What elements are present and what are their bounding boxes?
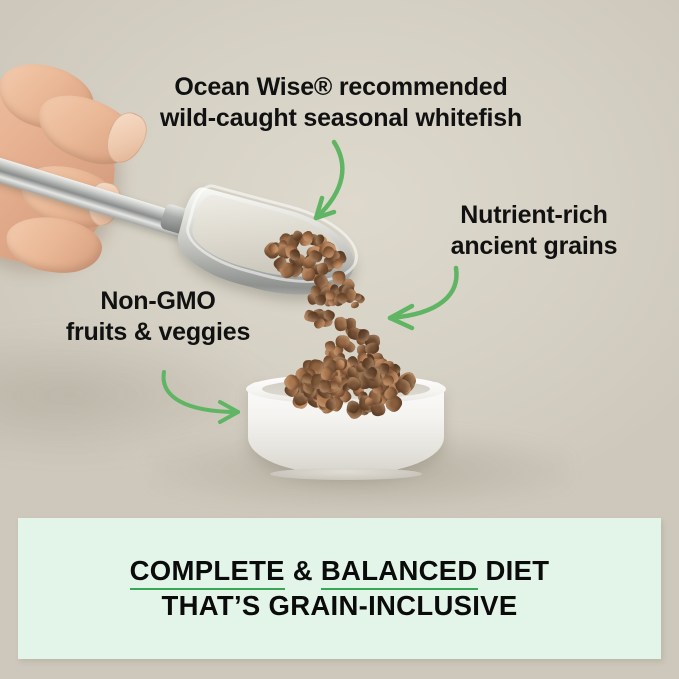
curved-arrow-down-left-icon xyxy=(286,138,376,234)
annotation-grains-label: Nutrient-rich ancient grains xyxy=(418,200,650,261)
claim-banner: COMPLETE & BALANCED DIET THAT’S GRAIN-IN… xyxy=(18,518,661,659)
curved-arrow-left-icon xyxy=(374,262,466,342)
banner-line-2: THAT’S GRAIN-INCLUSIVE xyxy=(162,589,518,623)
banner-line-1: COMPLETE & BALANCED DIET xyxy=(130,554,550,588)
metal-scoop xyxy=(0,150,306,290)
kibble-piece xyxy=(331,270,346,285)
kibble-piece xyxy=(325,290,335,299)
annotation-whitefish-label: Ocean Wise® recommended wild-caught seas… xyxy=(104,72,578,133)
banner-diet-word: DIET xyxy=(478,555,550,586)
product-lifestyle-image: Ocean Wise® recommended wild-caught seas… xyxy=(0,0,679,679)
kibble-piece xyxy=(335,335,350,349)
kibble-piece xyxy=(335,359,345,369)
kibble-piece xyxy=(334,316,348,331)
annotation-nongmo-label: Non-GMO fruits & veggies xyxy=(36,286,280,347)
banner-ampersand: & xyxy=(285,555,321,586)
kibble-piece xyxy=(379,363,390,374)
banner-balanced-word: BALANCED xyxy=(321,555,478,590)
banner-complete-word: COMPLETE xyxy=(130,555,285,590)
bowl-foot xyxy=(270,468,422,480)
curved-arrow-right-down-icon xyxy=(158,368,254,428)
